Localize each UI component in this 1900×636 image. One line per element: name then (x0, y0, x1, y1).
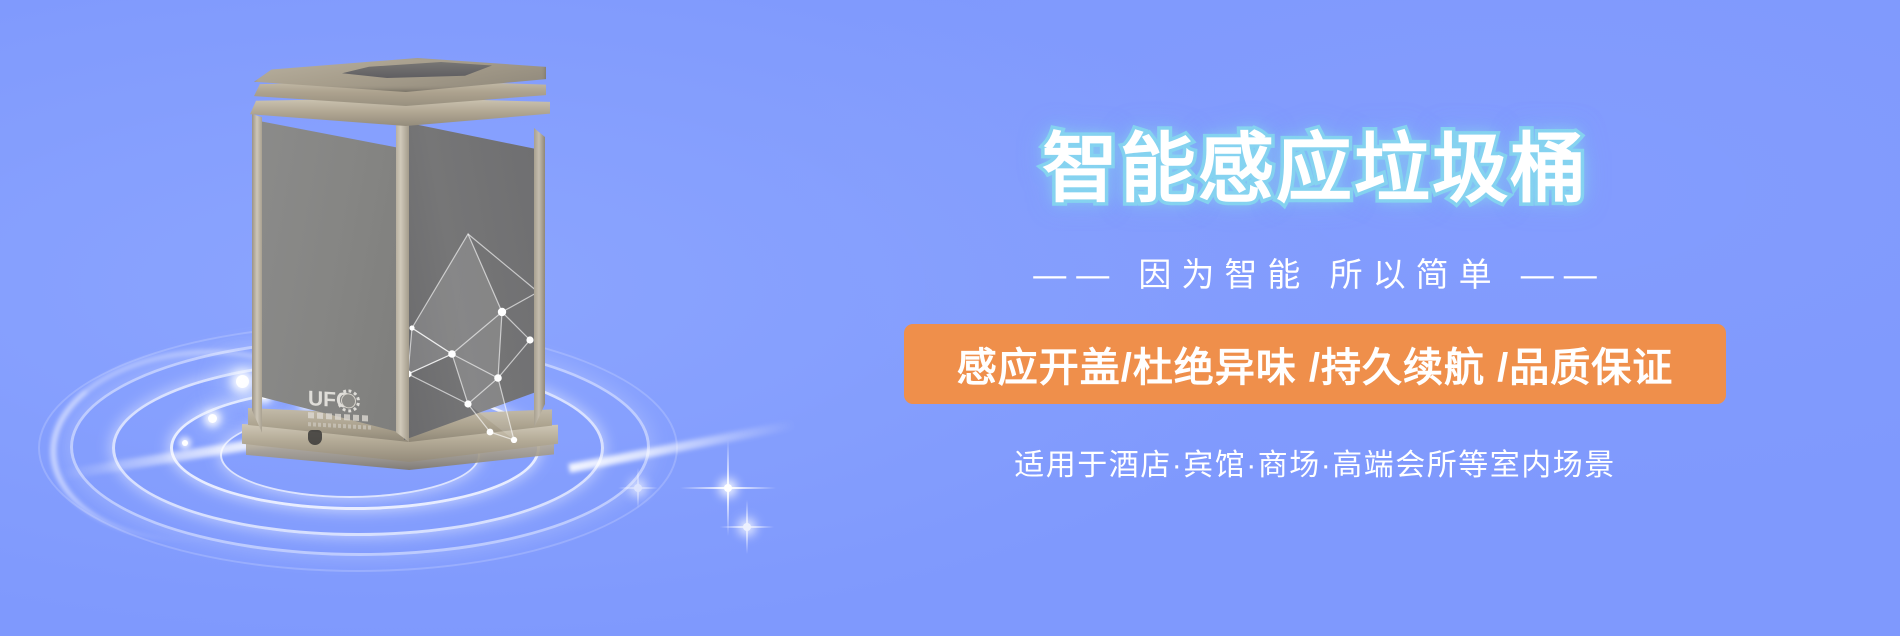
glow-dot-icon (208, 414, 217, 423)
bin-face-left (256, 114, 406, 434)
product-stage: UFO (60, 0, 760, 636)
brand-logo-inner-disc-icon (341, 393, 356, 409)
feature-badge-label: 感应开盖/杜绝异味 /持久续航 /品质保证 (957, 335, 1674, 393)
brand-logo-ufo: UFO (308, 388, 374, 438)
bin-constellation-graphic (406, 228, 546, 443)
brand-logo-subtext-line (308, 422, 372, 430)
bin-corner-pillar (396, 116, 409, 442)
page-title: 智能感应垃圾桶 (880, 128, 1750, 212)
scene-description: 适用于酒店·宾馆·商场·高端会所等室内场景 (904, 440, 1726, 484)
glow-dot-icon (182, 440, 188, 446)
sparkle-star-icon (720, 500, 774, 554)
brand-logo-chinese-line (308, 412, 368, 421)
bin-edge-left (252, 114, 262, 436)
copy-block: 智能感应垃圾桶 —— 因为智能 所以简单 —— 感应开盖/杜绝异味 /持久续航 … (880, 0, 1880, 636)
sparkle-star-icon (618, 468, 658, 508)
product-image-smart-trash-bin: UFO (246, 58, 556, 448)
subheadline: —— 因为智能 所以简单 —— (880, 248, 1750, 296)
promo-banner: UFO 智能感应垃圾桶 —— 因为智能 所以简单 —— 感应开盖/杜绝异味 /持… (0, 0, 1900, 636)
feature-badge: 感应开盖/杜绝异味 /持久续航 /品质保证 (904, 324, 1726, 404)
bin-edge-right (534, 128, 545, 428)
